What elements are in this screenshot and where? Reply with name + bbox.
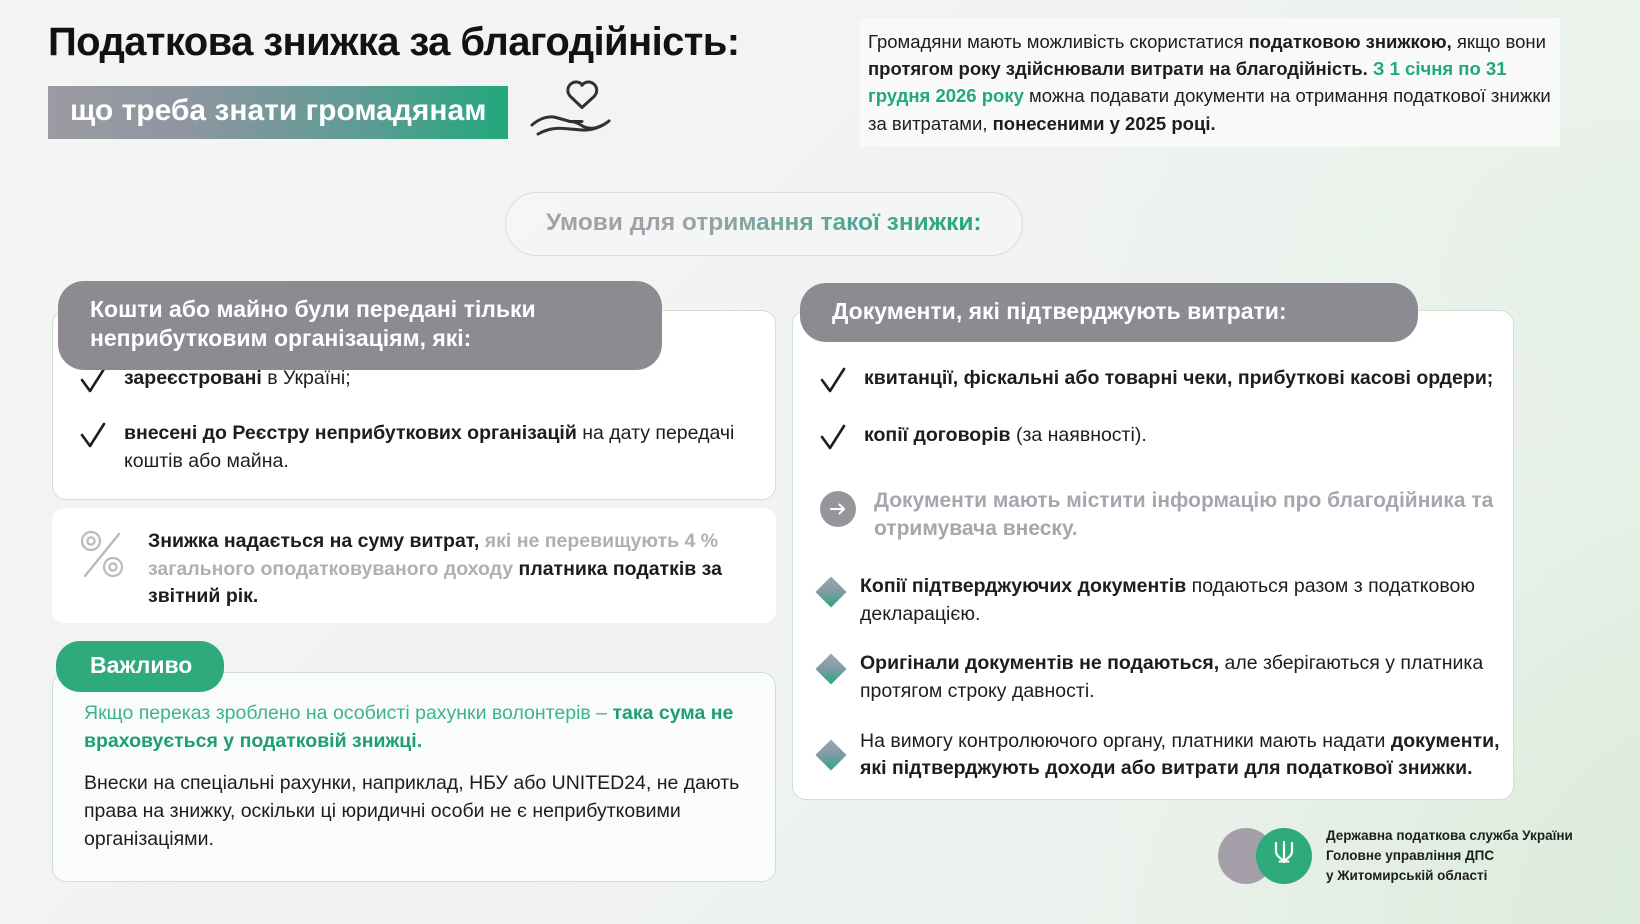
subtitle-row: що треба знати громадянам bbox=[48, 77, 848, 148]
important-green-plain: Якщо переказ зроблено на особисті рахунк… bbox=[84, 702, 612, 724]
logo-circle-green bbox=[1256, 828, 1312, 884]
list-item-rest: (за наявності). bbox=[1011, 424, 1147, 446]
list-item-text: Копії підтверджуючих документів подаютьс… bbox=[860, 573, 1500, 628]
intro-bold3: понесеними у 2025 році. bbox=[993, 113, 1216, 134]
organizations-card-header: Кошти або майно були передані тільки неп… bbox=[58, 281, 662, 370]
diamond-bullet-icon bbox=[815, 740, 846, 771]
organizations-check-list: зареєстровані в Україні; внесені до Реєс… bbox=[80, 365, 770, 495]
list-item: зареєстровані в Україні; bbox=[80, 365, 770, 400]
important-card-body: Якщо переказ зроблено на особисті рахунк… bbox=[84, 700, 750, 853]
list-item-bold: зареєстровані bbox=[124, 367, 262, 389]
check-icon bbox=[820, 424, 846, 457]
documents-note: Документи мають містити інформацію про б… bbox=[820, 487, 1500, 543]
list-item: Копії підтверджуючих документів подаютьс… bbox=[820, 573, 1500, 628]
list-item-rest: в Україні; bbox=[262, 367, 351, 389]
check-icon bbox=[80, 422, 106, 455]
list-item-text: копії договорів (за наявності). bbox=[864, 422, 1147, 450]
list-item-text: внесені до Реєстру неприбуткових організ… bbox=[124, 420, 770, 475]
important-badge: Важливо bbox=[56, 641, 224, 692]
logo-text-block: Державна податкова служба України Головн… bbox=[1326, 826, 1573, 885]
important-green-text: Якщо переказ зроблено на особисті рахунк… bbox=[84, 700, 750, 756]
percent-icon bbox=[78, 526, 126, 587]
diamond-bullet-icon bbox=[815, 654, 846, 685]
logo-circles bbox=[1218, 828, 1314, 884]
list-item-bold: Оригінали документів не подаються, bbox=[860, 652, 1219, 674]
list-item-text: квитанції, фіскальні або товарні чеки, п… bbox=[864, 365, 1493, 393]
diamond-bullet-icon bbox=[815, 576, 846, 607]
page-title: Податкова знижка за благодійність: bbox=[48, 20, 848, 65]
intro-bold1: податковою знижкою, bbox=[1249, 31, 1452, 52]
percent-limit-text: Знижка надається на суму витрат, які не … bbox=[148, 526, 778, 611]
hand-heart-icon bbox=[526, 77, 614, 148]
percent-limit-row: Знижка надається на суму витрат, які не … bbox=[78, 526, 778, 611]
list-item: копії договорів (за наявності). bbox=[820, 422, 1500, 457]
list-item-pre: На вимогу контролюючого органу, платники… bbox=[860, 730, 1391, 752]
trident-emblem-icon bbox=[1273, 840, 1295, 871]
check-icon bbox=[80, 367, 106, 400]
list-item-bold: копії договорів bbox=[864, 424, 1011, 446]
intro-paragraph: Громадяни мають можливість скористатися … bbox=[860, 18, 1560, 147]
conditions-pill-label: Умови для отримання такої знижки: bbox=[546, 209, 982, 236]
intro-part2: якщо вони bbox=[1452, 31, 1546, 52]
page-subtitle: що треба знати громадянам bbox=[48, 86, 508, 139]
logo-line-2: Головне управління ДПС bbox=[1326, 846, 1573, 866]
important-plain-text: Внески на спеціальні рахунки, наприклад,… bbox=[84, 770, 750, 854]
list-item: внесені до Реєстру неприбуткових організ… bbox=[80, 420, 770, 475]
page-header: Податкова знижка за благодійність: що тр… bbox=[48, 20, 848, 148]
arrow-right-icon bbox=[820, 491, 856, 527]
intro-bold2: протягом року здійснювали витрати на бла… bbox=[868, 58, 1368, 79]
documents-card-header: Документи, які підтверджують витрати: bbox=[800, 283, 1418, 342]
check-icon bbox=[820, 367, 846, 400]
list-item-bold: квитанції, фіскальні або товарні чеки, п… bbox=[864, 367, 1493, 389]
list-item: квитанції, фіскальні або товарні чеки, п… bbox=[820, 365, 1500, 400]
percent-bold1: Знижка надається на суму витрат, bbox=[148, 530, 479, 552]
list-item: На вимогу контролюючого органу, платники… bbox=[820, 728, 1500, 783]
infographic-page: Податкова знижка за благодійність: що тр… bbox=[0, 0, 1640, 924]
footer-logo: Державна податкова служба України Головн… bbox=[1218, 826, 1573, 885]
intro-part1: Громадяни мають можливість скористатися bbox=[868, 31, 1249, 52]
logo-line-3: у Житомирській області bbox=[1326, 866, 1573, 886]
list-item-bold: Копії підтверджуючих документів bbox=[860, 575, 1186, 597]
documents-note-text: Документи мають містити інформацію про б… bbox=[874, 487, 1500, 543]
list-item-bold: внесені до Реєстру неприбуткових організ… bbox=[124, 422, 577, 444]
conditions-pill: Умови для отримання такої знижки: bbox=[505, 192, 1023, 256]
list-item-text: На вимогу контролюючого органу, платники… bbox=[860, 728, 1500, 783]
documents-list: квитанції, фіскальні або товарні чеки, п… bbox=[820, 365, 1500, 805]
list-item: Оригінали документів не подаються, але з… bbox=[820, 650, 1500, 705]
logo-line-1: Державна податкова служба України bbox=[1326, 826, 1573, 846]
list-item-text: Оригінали документів не подаються, але з… bbox=[860, 650, 1500, 705]
